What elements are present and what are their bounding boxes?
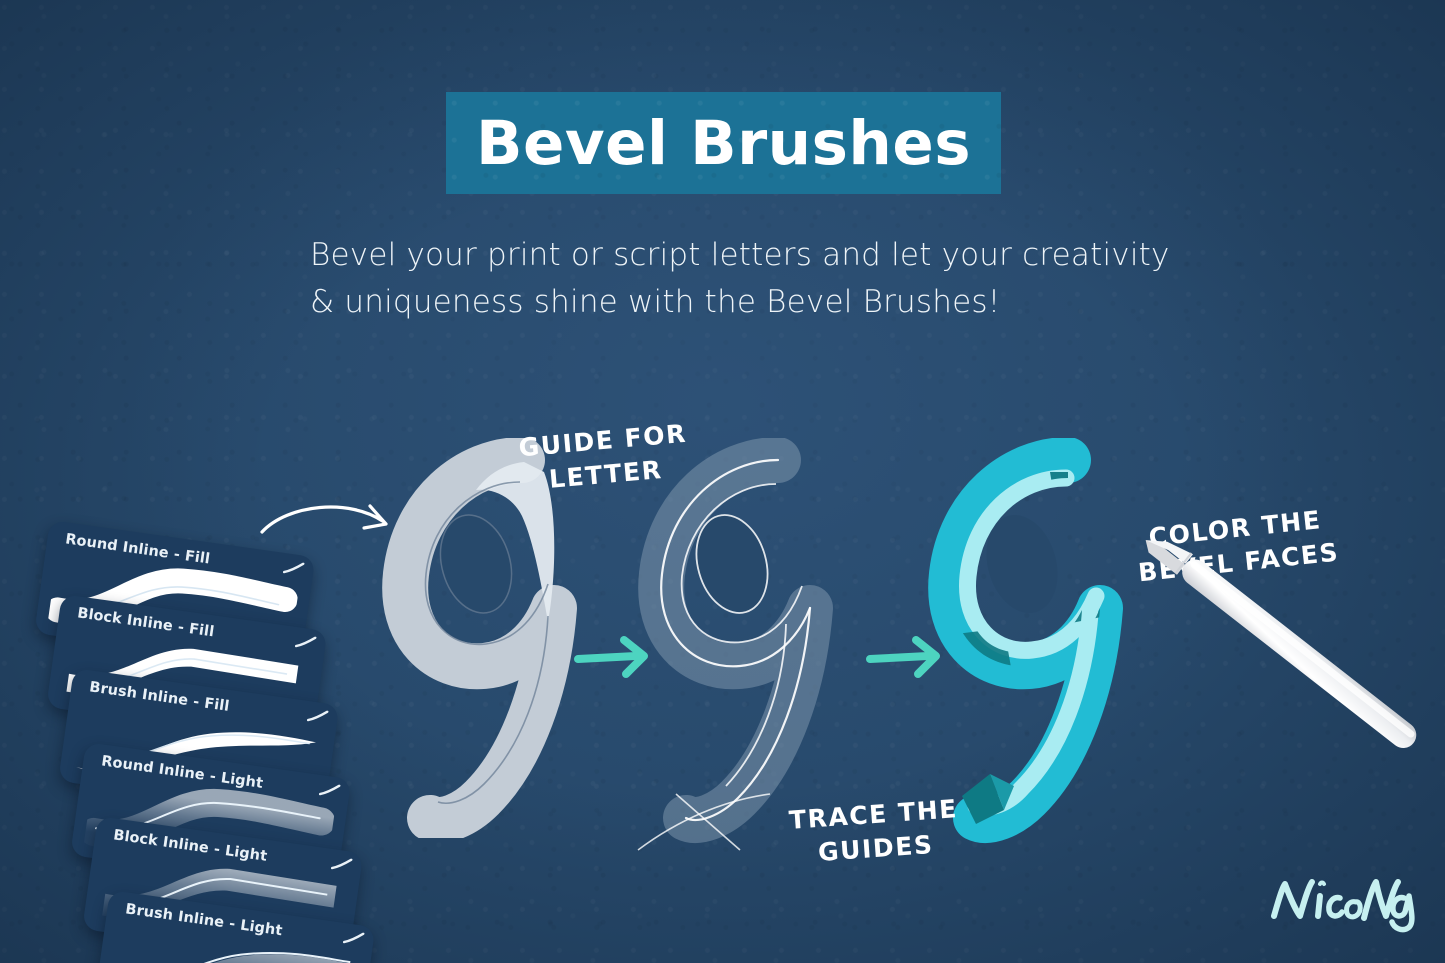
step-arrow-1-icon — [574, 634, 656, 680]
subtitle-line-2: & uniqueness shine with the Bevel Brushe… — [310, 279, 1210, 326]
stylus-pencil-icon — [1100, 520, 1445, 750]
brush-list-panel[interactable]: Round Inline - Fill Block Inline - Fill … — [44, 498, 364, 963]
step-arrow-2-icon — [866, 634, 948, 680]
swipe-glyph-icon — [295, 634, 317, 651]
letter-step-1-guide — [372, 438, 604, 838]
swipe-glyph-icon — [331, 856, 353, 873]
subtitle-line-1: Bevel your print or script letters and l… — [310, 232, 1210, 279]
subtitle: Bevel your print or script letters and l… — [310, 232, 1210, 326]
brand-signature-nico-ng: Nico Ng — [1268, 872, 1418, 936]
swipe-glyph-icon — [343, 930, 365, 947]
annotation-trace-the-guides: TRACE THE GUIDES — [788, 792, 962, 871]
swipe-glyph-icon — [307, 708, 329, 725]
letter-step-2-trace — [628, 438, 878, 858]
page-title: Bevel Brushes — [476, 108, 971, 179]
title-banner: Bevel Brushes — [446, 92, 1001, 194]
swipe-glyph-icon — [283, 560, 305, 577]
swipe-glyph-icon — [319, 782, 341, 799]
poster-canvas: Bevel Brushes Bevel your print or script… — [0, 0, 1445, 963]
